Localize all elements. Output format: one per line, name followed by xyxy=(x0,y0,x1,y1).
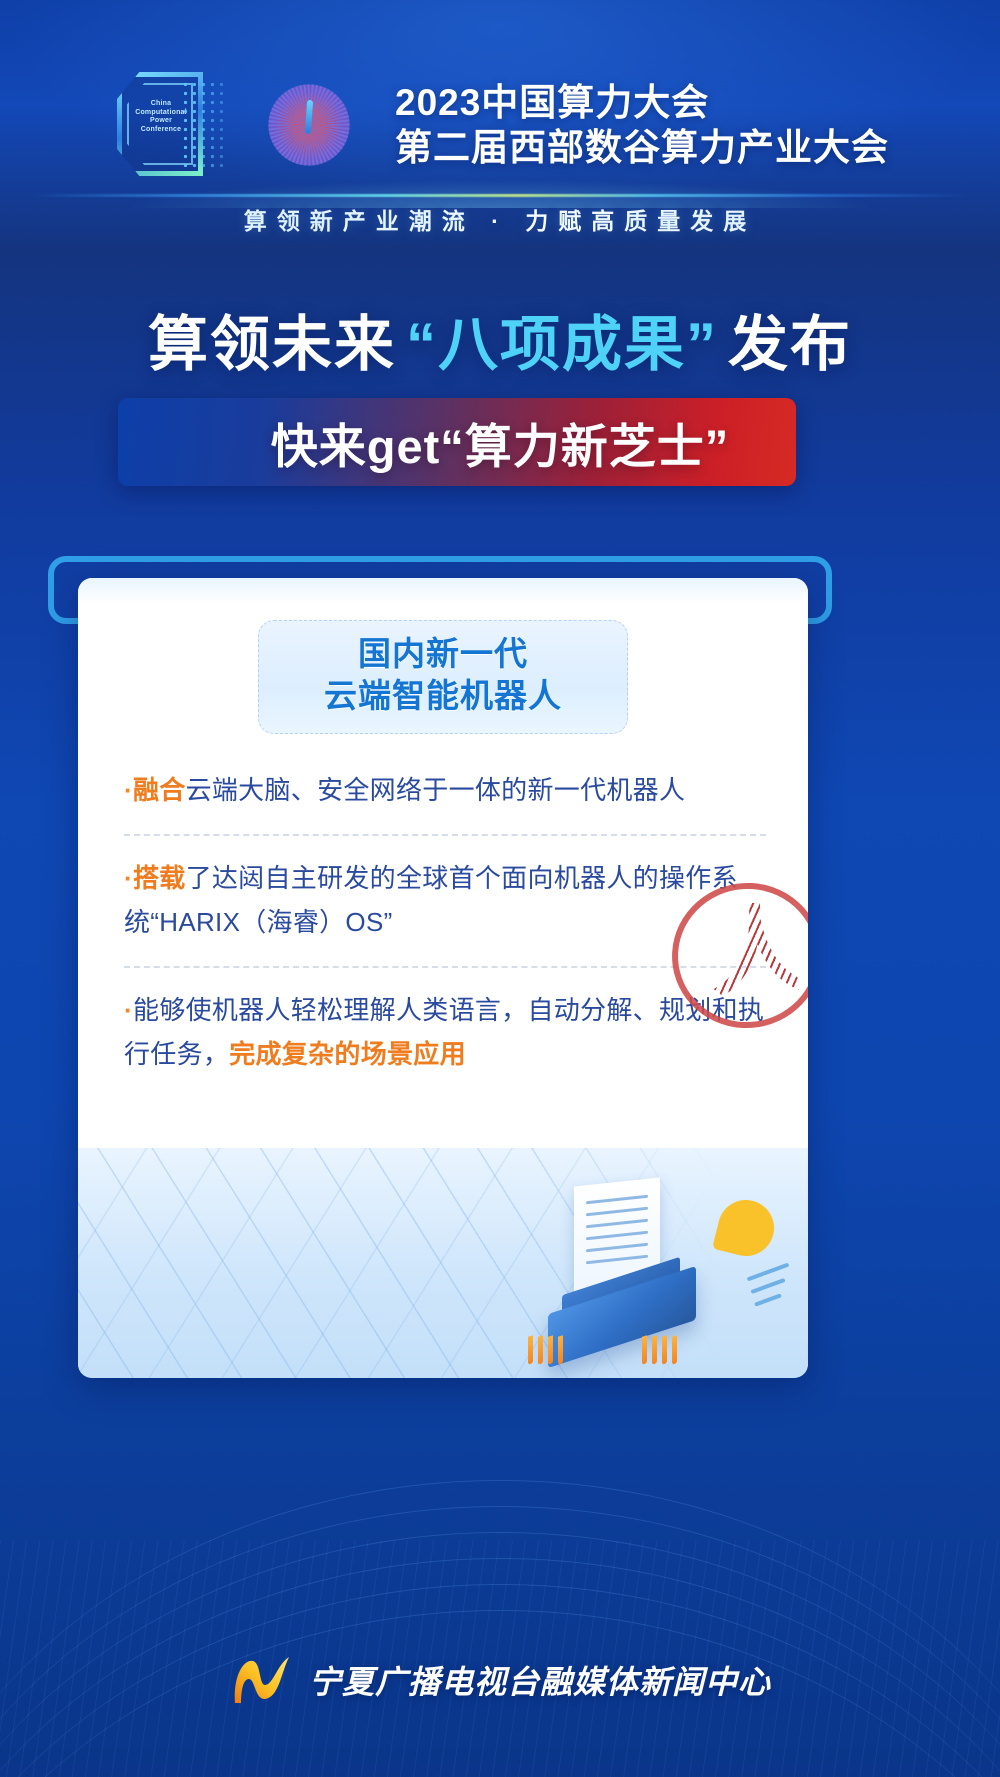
headline-part1: 算领未来 xyxy=(148,311,396,378)
slogan-divider-line xyxy=(30,194,970,197)
card-title-pill: 国内新一代 云端智能机器人 xyxy=(258,620,628,734)
data-valley-fan-logo-icon xyxy=(247,63,371,187)
bullet-divider xyxy=(124,966,766,968)
conference-title: 2023中国算力大会 第二届西部数谷算力产业大会 xyxy=(395,80,889,170)
list-item: ·搭载了达闼自主研发的全球首个面向机器人的操作系统“HARIX（海睿）OS” xyxy=(124,856,766,944)
background-arcs xyxy=(0,1480,1000,1777)
footer: 宁夏广播电视台融媒体新闻中心 xyxy=(0,1640,1000,1720)
chip-pins-icon xyxy=(522,1330,712,1364)
bullet-divider xyxy=(124,834,766,836)
footer-text: 宁夏广播电视台融媒体新闻中心 xyxy=(309,1657,771,1703)
bullet-dot: · xyxy=(124,863,133,893)
headline-part2: 发布 xyxy=(728,311,852,378)
conference-title-line1: 2023中国算力大会 xyxy=(395,80,889,125)
bullet-dot: · xyxy=(124,995,133,1025)
slogan-text: 算领新产业潮流 · 力赋高质量发展 xyxy=(0,202,1000,236)
list-item: ·能够使机器人轻松理解人类语言，自动分解、规划和执行任务，完成复杂的场景应用 xyxy=(124,988,766,1076)
bullet-dot: · xyxy=(124,775,133,805)
bullet-text: 了达闼自主研发的全球首个面向机器人的操作系统“HARIX（海睿）OS” xyxy=(124,863,738,937)
bullet-emphasis: 搭载 xyxy=(133,863,186,893)
cpc-hexagon-logo-icon: China Computational Power Conference xyxy=(111,66,229,184)
card-top-sheen xyxy=(78,578,808,604)
card-bullet-list: ·融合云端大脑、安全网络于一体的新一代机器人 ·搭载了达闼自主研发的全球首个面向… xyxy=(124,768,766,1076)
card-title-line1: 国内新一代 xyxy=(297,633,589,675)
subtitle-banner-text: 快来get“算力新芝士” xyxy=(0,398,1000,486)
bullet-text: 云端大脑、安全网络于一体的新一代机器人 xyxy=(186,775,686,805)
list-item: ·融合云端大脑、安全网络于一体的新一代机器人 xyxy=(124,768,766,812)
page-title: 算领未来“八项成果”发布 xyxy=(0,296,1000,383)
conference-header: China Computational Power Conference 202… xyxy=(0,55,1000,195)
slogan-bar: 算领新产业潮流 · 力赋高质量发展 xyxy=(0,186,1000,244)
bullet-emphasis: 融合 xyxy=(133,775,186,805)
annotation-mark: 人 xyxy=(706,897,799,1013)
card-illustration xyxy=(78,1148,808,1378)
headline-accent: “八项成果” xyxy=(406,311,718,378)
bullet-tail-emphasis: 完成复杂的场景应用 xyxy=(229,1039,466,1069)
achievement-card: 国内新一代 云端智能机器人 ·融合云端大脑、安全网络于一体的新一代机器人 ·搭载… xyxy=(78,578,808,1378)
card-title-line2: 云端智能机器人 xyxy=(297,675,589,717)
conference-title-line2: 第二届西部数谷算力产业大会 xyxy=(395,125,889,170)
ningxia-tv-logo-icon xyxy=(229,1651,295,1709)
